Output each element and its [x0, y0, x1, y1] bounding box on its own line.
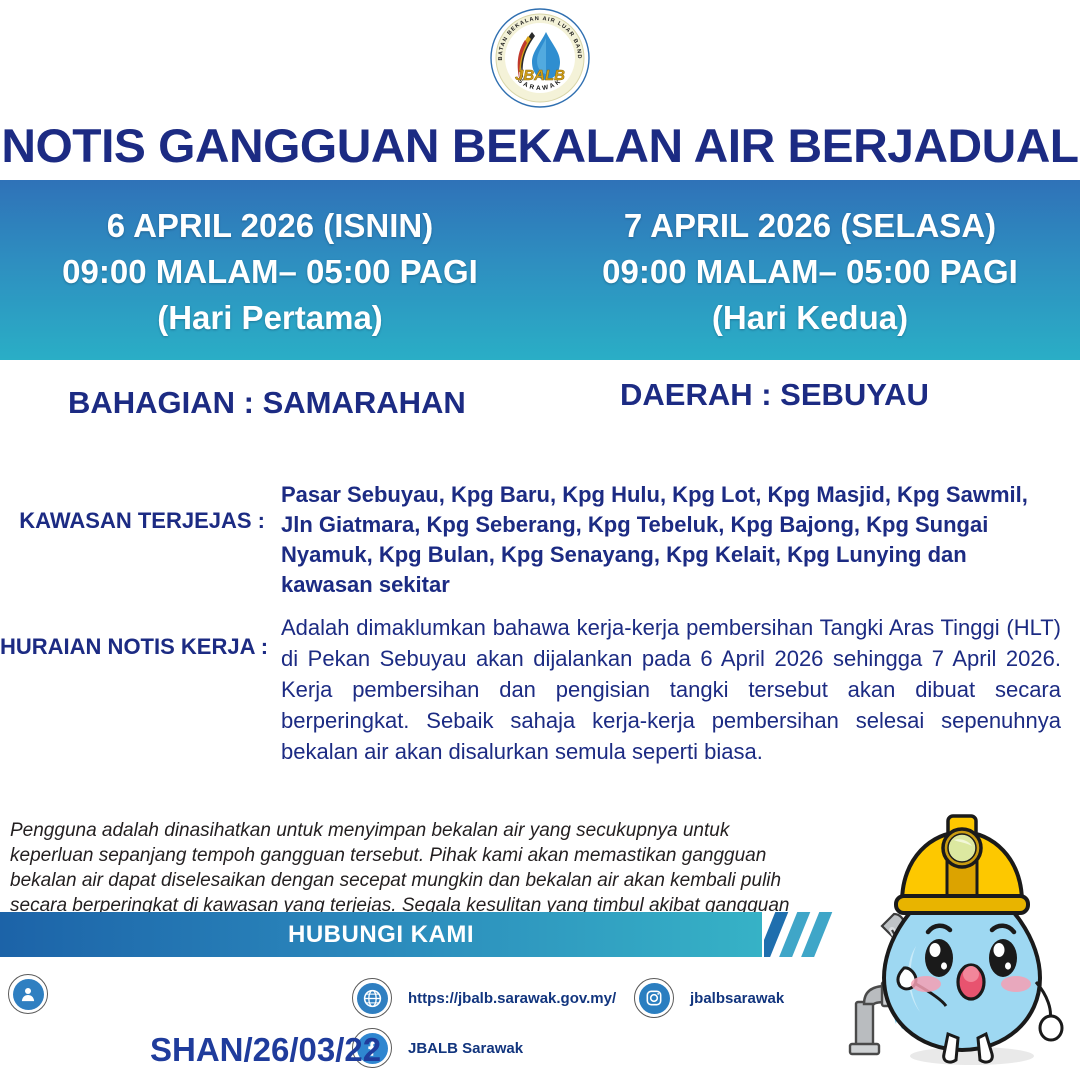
day-2-time: 09:00 MALAM– 05:00 PAGI	[602, 249, 1018, 295]
affected-areas-value: Pasar Sebuyau, Kpg Baru, Kpg Hulu, Kpg L…	[281, 480, 1061, 600]
work-description-value: Adalah dimaklumkan bahawa kerja-kerja pe…	[281, 612, 1061, 767]
schedule-day-1: 6 APRIL 2026 (ISNIN) 09:00 MALAM– 05:00 …	[0, 180, 540, 360]
website-url[interactable]: https://jbalb.sarawak.gov.my/	[408, 990, 616, 1007]
svg-text:JBALB: JBALB	[515, 67, 565, 84]
facebook-handle[interactable]: JBALB Sarawak	[408, 1040, 523, 1057]
person-icon	[8, 974, 48, 1014]
instagram-handle[interactable]: jbalbsarawak	[690, 990, 784, 1007]
affected-areas-label: KAWASAN TERJEJAS :	[0, 480, 265, 600]
globe-icon[interactable]	[352, 978, 392, 1018]
work-description-label: HURAIAN NOTIS KERJA :	[0, 612, 265, 767]
logo-container: JABATAN BEKALAN AIR LUAR BANDAR SARAWAK …	[0, 4, 1080, 112]
instagram-icon[interactable]	[634, 978, 674, 1018]
contact-bar-title: HUBUNGI KAMI	[288, 921, 474, 949]
daerah-text: DAERAH : SEBUYAU	[620, 377, 929, 413]
schedule-banner: 6 APRIL 2026 (ISNIN) 09:00 MALAM– 05:00 …	[0, 180, 1080, 360]
day-2-date: 7 APRIL 2026 (SELASA)	[624, 203, 996, 249]
notice-poster: JABATAN BEKALAN AIR LUAR BANDAR SARAWAK …	[0, 0, 1080, 1080]
affected-areas-row: KAWASAN TERJEJAS : Pasar Sebuyau, Kpg Ba…	[0, 480, 1061, 600]
day-1-date: 6 APRIL 2026 (ISNIN)	[107, 203, 433, 249]
work-description-row: HURAIAN NOTIS KERJA : Adalah dimaklumkan…	[0, 612, 1061, 767]
schedule-day-2: 7 APRIL 2026 (SELASA) 09:00 MALAM– 05:00…	[540, 180, 1080, 360]
page-title: NOTIS GANGGUAN BEKALAN AIR BERJADUAL	[0, 118, 1080, 173]
division-row: BAHAGIAN : SAMARAHAN DAERAH : SEBUYAU	[0, 385, 1080, 429]
hard-hat	[896, 816, 1028, 913]
decorative-slashes	[764, 912, 850, 957]
day-2-label: (Hari Kedua)	[712, 295, 908, 341]
water-droplet-mascot	[846, 806, 1078, 1074]
reference-number: SHAN/26/03/22	[150, 1031, 381, 1069]
jbalb-logo: JABATAN BEKALAN AIR LUAR BANDAR SARAWAK …	[488, 6, 592, 110]
day-1-time: 09:00 MALAM– 05:00 PAGI	[62, 249, 478, 295]
bahagian-text: BAHAGIAN : SAMARAHAN	[68, 385, 466, 421]
day-1-label: (Hari Pertama)	[157, 295, 383, 341]
contact-bar: HUBUNGI KAMI	[0, 912, 762, 957]
